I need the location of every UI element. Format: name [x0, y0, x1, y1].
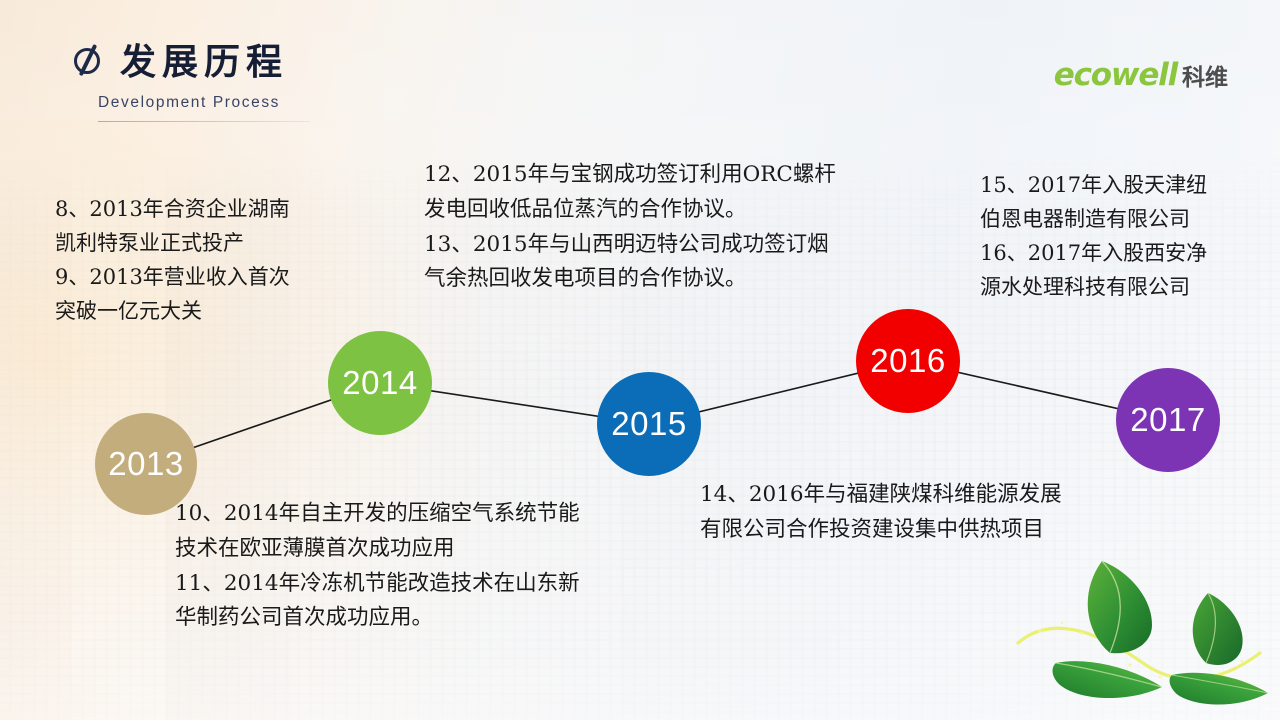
company-logo: ecowell 科维 — [1054, 60, 1228, 91]
timeline-node-label: 2014 — [342, 364, 417, 402]
milestone-text-left-top: 8、2013年合资企业湖南 凯利特泵业正式投产 9、2013年营业收入首次 突破… — [55, 192, 385, 328]
milestone-text-bottom-right: 14、2016年与福建陕煤科维能源发展 有限公司合作投资建设集中供热项目 — [700, 478, 1170, 548]
milestone-text-right-top: 15、2017年入股天津纽 伯恩电器制造有限公司 16、2017年入股西安净 源… — [980, 168, 1280, 304]
timeline-node-2016[interactable]: 2016 — [856, 309, 960, 413]
page-subtitle: Development Process — [98, 94, 402, 112]
timeline-node-label: 2013 — [108, 445, 183, 483]
slashed-circle-icon — [72, 44, 106, 78]
slide-header: 发展历程 Development Process — [72, 44, 402, 122]
slide-canvas: 发展历程 Development Process ecowell 科维 2013… — [0, 0, 1280, 720]
page-title: 发展历程 — [120, 45, 288, 81]
logo-wordmark: ecowell — [1054, 60, 1177, 91]
timeline-node-2015[interactable]: 2015 — [597, 372, 701, 476]
timeline-node-2017[interactable]: 2017 — [1116, 368, 1220, 472]
timeline-node-label: 2016 — [870, 342, 945, 380]
title-divider — [98, 121, 310, 122]
logo-chinese-name: 科维 — [1182, 67, 1228, 90]
milestone-text-bottom-left: 10、2014年自主开发的压缩空气系统节能 技术在欧亚薄膜首次成功应用 11、2… — [175, 497, 695, 636]
milestone-text-middle-top: 12、2015年与宝钢成功签订利用ORC螺杆 发电回收低品位蒸汽的合作协议。 1… — [424, 158, 944, 297]
timeline-node-label: 2017 — [1130, 401, 1205, 439]
header-title-row: 发展历程 — [72, 44, 402, 82]
timeline-node-label: 2015 — [611, 405, 686, 443]
timeline-node-2014[interactable]: 2014 — [328, 331, 432, 435]
